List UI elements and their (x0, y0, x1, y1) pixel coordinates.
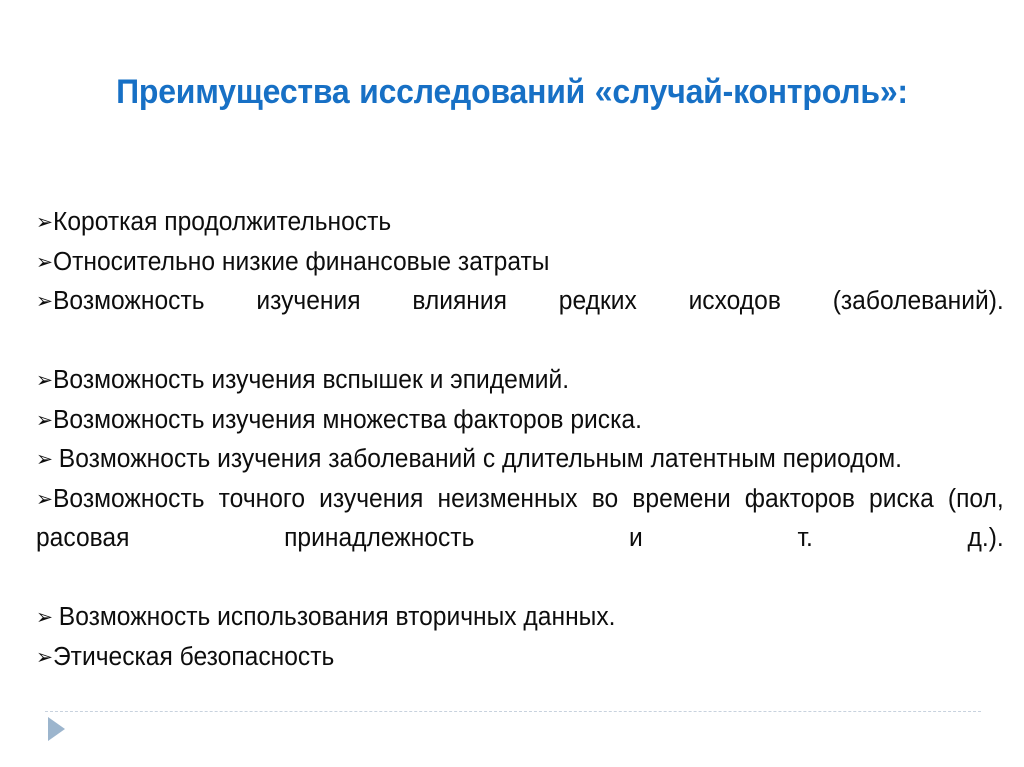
bullet-arrow-icon: ➢ (36, 289, 53, 313)
list-item-label: Возможность изучения влияния редких исхо… (36, 287, 1004, 355)
footer-divider (45, 711, 981, 712)
bullet-arrow-icon: ➢ (36, 408, 53, 432)
play-triangle-icon[interactable] (48, 717, 65, 741)
list-item: ➢Возможность точного изучения неизменных… (36, 480, 1004, 599)
bullet-arrow-icon: ➢ (36, 368, 53, 392)
list-item: ➢Возможность изучения множества факторов… (36, 401, 1004, 441)
page-title: Преимущества исследований «случай-контро… (110, 68, 915, 117)
bullet-arrow-icon: ➢ (36, 447, 59, 471)
list-item-label: Этическая безопасность (53, 643, 334, 671)
advantages-bullet-list: ➢Короткая продолжительность➢Относительно… (36, 203, 1004, 677)
list-item: ➢Относительно низкие финансовые затраты (36, 243, 1004, 283)
slide-canvas: Преимущества исследований «случай-контро… (0, 0, 1024, 767)
bullet-arrow-icon: ➢ (36, 645, 53, 669)
list-item-label: Возможность точного изучения неизменных … (36, 485, 1004, 592)
list-item-label: Возможность изучения множества факторов … (53, 406, 642, 434)
list-item: ➢Возможность использования вторичных дан… (36, 598, 1004, 638)
list-item: ➢Возможность изучения вспышек и эпидемий… (36, 361, 1004, 401)
bullet-arrow-icon: ➢ (36, 250, 53, 274)
list-item-label: Возможность изучения вспышек и эпидемий. (53, 366, 569, 394)
list-item-label: Относительно низкие финансовые затраты (53, 248, 549, 276)
list-item-label: Возможность изучения заболеваний с длите… (59, 445, 902, 473)
slide-body-placeholder: ➢Короткая продолжительность➢Относительно… (36, 203, 1004, 677)
list-item: ➢Возможность изучения влияния редких исх… (36, 282, 1004, 361)
list-item: ➢Короткая продолжительность (36, 203, 1004, 243)
list-item-label: Возможность использования вторичных данн… (59, 603, 616, 631)
list-item: ➢Возможность изучения заболеваний с длит… (36, 440, 1004, 480)
bullet-arrow-icon: ➢ (36, 605, 59, 629)
list-item-label: Короткая продолжительность (53, 208, 391, 236)
bullet-arrow-icon: ➢ (36, 210, 53, 234)
bullet-arrow-icon: ➢ (36, 487, 53, 511)
list-item: ➢Этическая безопасность (36, 638, 1004, 678)
slide-title-placeholder: Преимущества исследований «случай-контро… (84, 68, 940, 117)
